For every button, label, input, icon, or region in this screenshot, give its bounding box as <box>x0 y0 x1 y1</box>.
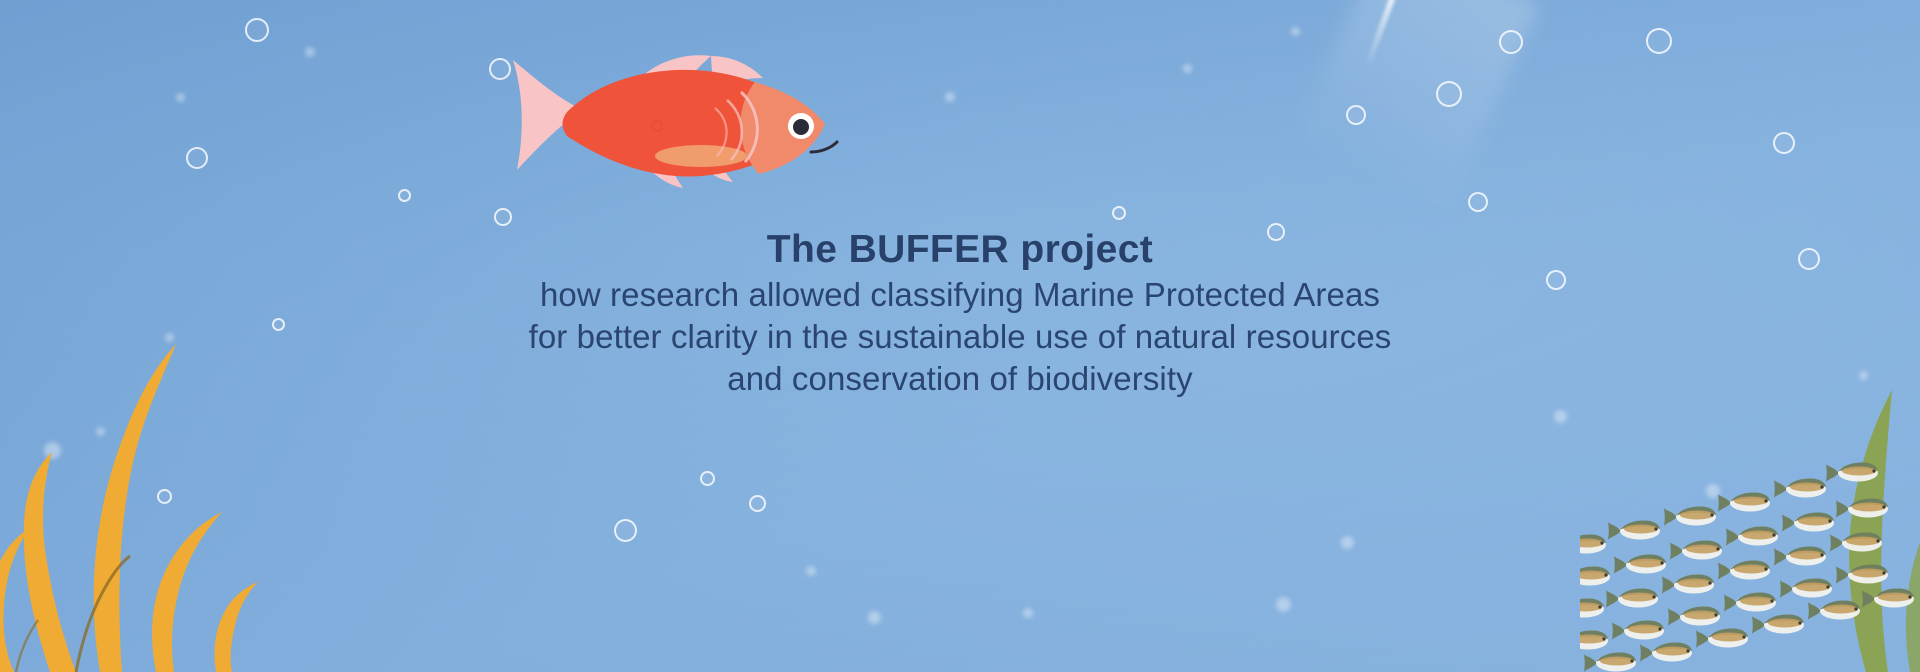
bubble-icon <box>1554 410 1567 423</box>
bubble-icon <box>1436 81 1462 107</box>
bubble-icon <box>1291 27 1300 36</box>
bubble-icon <box>1346 105 1366 125</box>
bubble-icon <box>1773 132 1795 154</box>
bubble-icon <box>1499 30 1523 54</box>
bubble-icon <box>398 189 411 202</box>
orange-kelp-icon <box>0 300 260 672</box>
bubble-icon <box>1468 192 1488 212</box>
bubble-icon <box>1341 536 1354 549</box>
page-title: The BUFFER project <box>0 228 1920 272</box>
subtitle-line-3: and conservation of biodiversity <box>0 358 1920 400</box>
bubble-icon <box>272 318 285 331</box>
bubble-icon <box>1859 371 1868 380</box>
bubble-icon <box>749 495 766 512</box>
caption-block: The BUFFER project how research allowed … <box>0 228 1920 400</box>
bubble-icon <box>305 47 315 57</box>
bubble-icon <box>1546 270 1566 290</box>
school-of-fish-icon <box>1580 440 1920 672</box>
bubble-icon <box>1112 206 1126 220</box>
bubble-icon <box>868 611 881 624</box>
bubble-icon <box>806 566 816 576</box>
bubble-icon <box>700 471 715 486</box>
underwater-scene: The BUFFER project how research allowed … <box>0 0 1920 672</box>
bubble-icon <box>1646 28 1672 54</box>
red-fish-icon <box>505 48 855 198</box>
bubble-icon <box>1276 597 1291 612</box>
bubble-icon <box>1267 223 1285 241</box>
bubble-icon <box>1183 64 1192 73</box>
subtitle-line-2: for better clarity in the sustainable us… <box>0 316 1920 358</box>
light-ray-streak-icon <box>1365 0 1397 67</box>
bubble-icon <box>494 208 512 226</box>
bubble-icon <box>245 18 269 42</box>
bubble-icon <box>945 92 955 102</box>
light-ray-icon <box>1291 0 1540 215</box>
bubble-icon <box>614 519 637 542</box>
bubble-icon <box>1023 608 1033 618</box>
bubble-icon <box>186 147 208 169</box>
subtitle-line-1: how research allowed classifying Marine … <box>0 274 1920 316</box>
bubble-icon <box>1798 248 1820 270</box>
bubble-icon <box>176 93 185 102</box>
